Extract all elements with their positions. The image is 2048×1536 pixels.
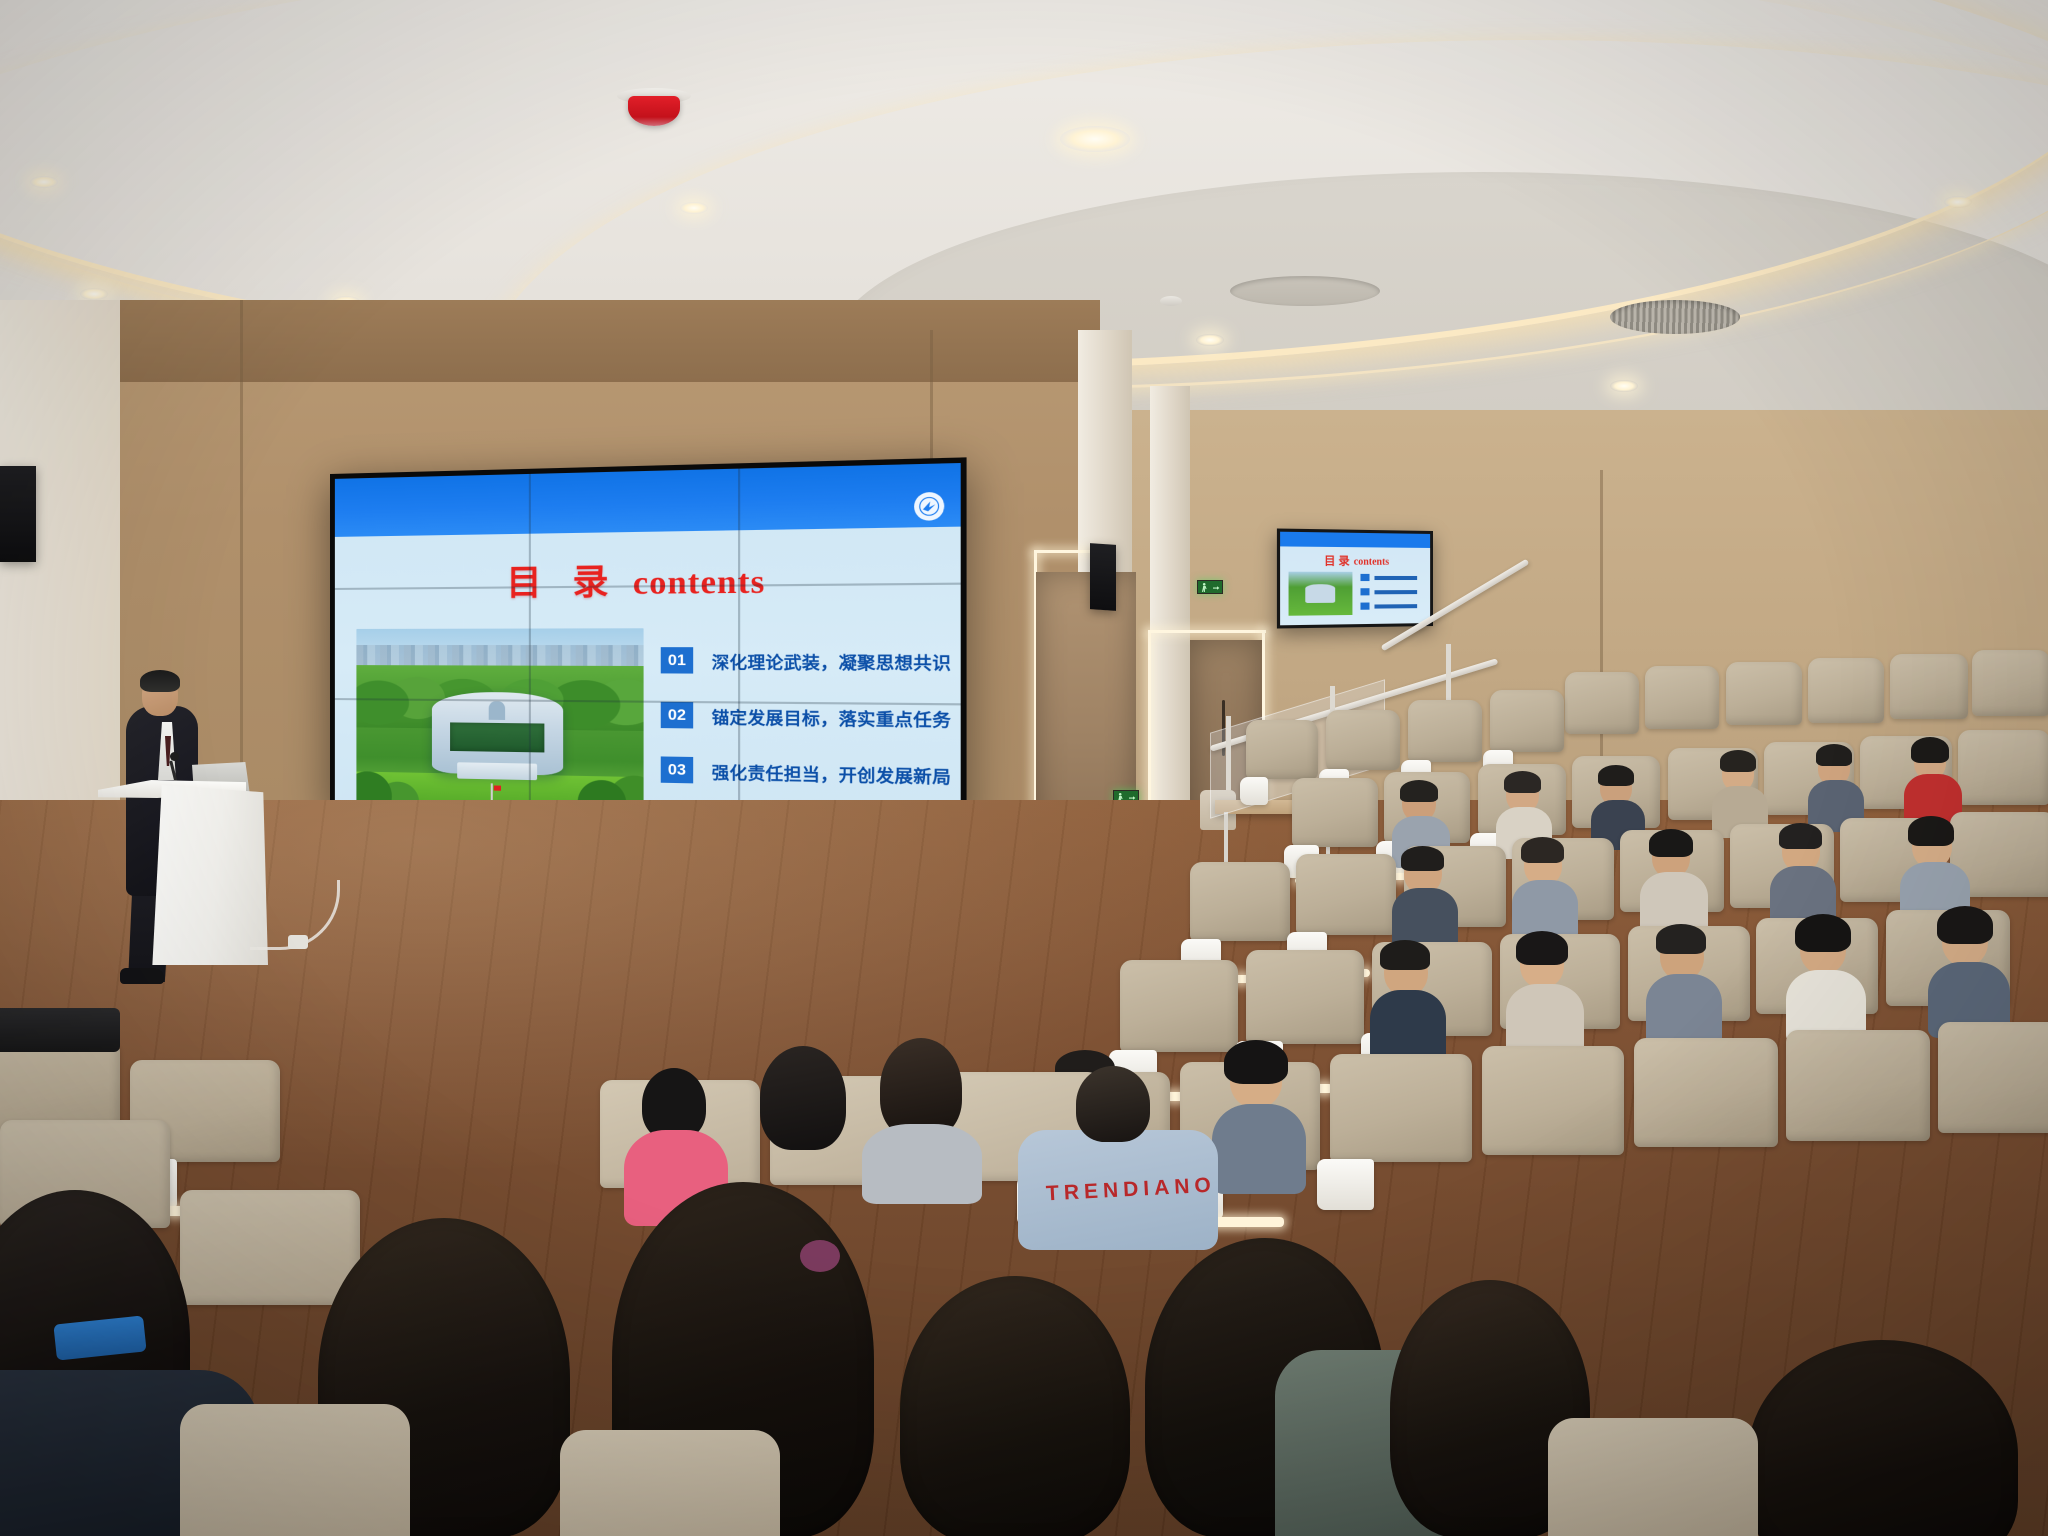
ceiling-downlight [80,288,108,300]
auditorium-seat[interactable] [1786,1030,1930,1184]
auditorium-seat[interactable] [1808,658,1884,748]
smoke-detector-icon [1160,296,1182,306]
slide-building-photo [356,628,643,819]
auditorium-seat[interactable] [1645,666,1719,754]
wall-column [1150,386,1190,856]
presenter-shoe [120,968,164,984]
auditorium-seat[interactable] [1972,650,2048,742]
ceiling-round-vent [1230,276,1380,306]
secondary-title-en: contents [1354,556,1389,567]
auditorium-scene: 目 录contents 01 深化理论武装，凝聚思想共识 02 [0,0,2048,1536]
seat-writing-tablet[interactable] [0,1008,120,1052]
secondary-slide-header [1280,532,1430,548]
slide-title-cn: 目 录 [506,561,618,603]
agenda-number: 02 [661,702,693,729]
secondary-slide-canvas: 目 录contents [1280,532,1430,626]
auditorium-seat[interactable] [1726,662,1802,750]
ceiling-downlight [1944,196,1972,208]
secondary-monitor[interactable]: 目 录contents [1277,528,1433,628]
agenda-label: 深化理论武装，凝聚思想共识 [712,648,952,674]
auditorium-seat[interactable] [180,1404,410,1536]
auditorium-seat[interactable] [1330,1054,1472,1204]
agenda-item: 03 强化责任担当，开创发展新局 [661,756,941,788]
agenda-number: 03 [661,756,693,783]
floor-power-box [288,935,308,949]
slide-title-en: contents [633,562,765,601]
ceiling-downlight [1610,380,1638,392]
wall-speaker-right [1090,543,1116,611]
wall-speaker-left [0,466,36,562]
auditorium-seat[interactable] [1938,1022,2048,1176]
ceiling-downlight [680,202,708,214]
back-wall-upper-strip [0,300,1100,382]
agenda-number: 01 [661,647,693,673]
videowall-seam [738,469,740,820]
led-trim-strip [1148,630,1266,633]
ceiling-downlight [1196,334,1224,346]
main-presentation-screen[interactable]: 目 录contents 01 深化理论武装，凝聚思想共识 02 [330,457,967,830]
agenda-item [1360,588,1430,595]
videowall-seam [529,474,531,814]
agenda-item: 02 锚定发展目标，落实重点任务 [661,702,941,732]
left-wall-panel [0,300,120,860]
ceiling-air-vent [1610,300,1740,334]
secondary-title-cn: 目 录 [1324,555,1350,568]
secondary-slide-title: 目 录contents [1280,552,1430,569]
agenda-item: 01 深化理论武装，凝聚思想共识 [661,647,941,674]
agenda-item [1360,574,1430,581]
agenda-item [1360,602,1430,610]
auditorium-seat[interactable] [560,1430,780,1536]
ceiling-downlight [30,176,58,188]
hair-scrunchie [800,1240,840,1272]
presenter-hair [140,670,180,692]
microphone-icon [170,752,179,761]
ceiling-downlight [1060,126,1130,152]
secondary-building-photo [1289,572,1353,616]
slide-agenda-list: 01 深化理论武装，凝聚思想共识 02 锚定发展目标，落实重点任务 03 强化责… [661,647,941,818]
foreground-audience-head [900,1276,1130,1536]
agenda-label: 锚定发展目标，落实重点任务 [712,703,952,731]
slide-header-bar [335,463,961,537]
door-handle[interactable] [1222,700,1225,756]
auditorium-seat[interactable] [1890,654,1968,744]
auditorium-seat[interactable] [1565,672,1639,758]
auditorium-seat[interactable] [1634,1038,1778,1190]
slide-title: 目 录contents [335,549,961,606]
secondary-agenda-list [1360,574,1430,617]
agenda-label: 强化责任担当，开创发展新局 [712,758,952,788]
exit-sign-icon [1197,580,1223,594]
fire-alarm-strobe-icon [617,88,691,130]
slide-canvas: 目 录contents 01 深化理论武装，凝聚思想共识 02 [335,463,961,825]
auditorium-seat[interactable] [1548,1418,1758,1536]
auditorium-seat[interactable] [1482,1046,1624,1198]
